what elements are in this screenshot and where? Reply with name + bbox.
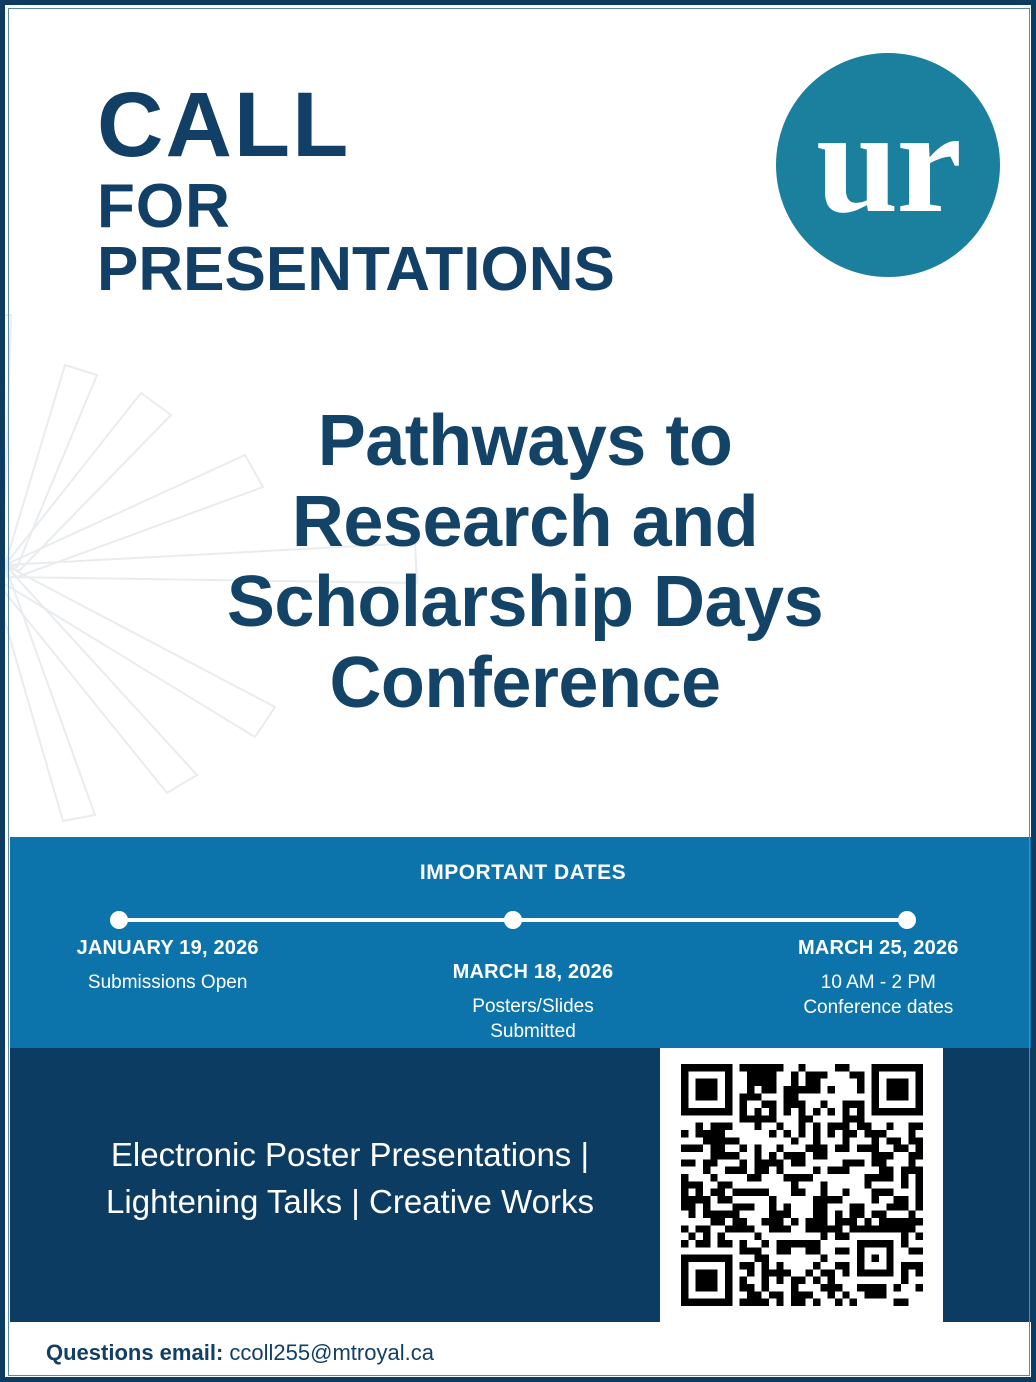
important-dates-heading: IMPORTANT DATES — [10, 861, 1036, 885]
timeline-track — [110, 911, 916, 929]
timeline-dot-1 — [110, 911, 128, 929]
milestone-item: MARCH 25, 2026 10 AM - 2 PM Conference d… — [686, 937, 1031, 1045]
headline-line-3: PRESENTATIONS — [97, 241, 615, 298]
important-dates-band: IMPORTANT DATES JANUARY 19, 2026 Submiss… — [10, 837, 1036, 1048]
milestone-detail: Posters/Slides — [380, 994, 685, 1019]
presentation-formats-text: Electronic Poster Presentations | Lighte… — [50, 1132, 650, 1226]
milestone-list: JANUARY 19, 2026 Submissions Open MARCH … — [15, 937, 1031, 1045]
milestone-detail: Submissions Open — [15, 970, 320, 995]
milestone-item: JANUARY 19, 2026 Submissions Open — [15, 937, 380, 1045]
ur-logo: ur — [776, 53, 1000, 277]
qr-code-panel — [660, 1048, 943, 1322]
ur-logo-mark: ur — [776, 88, 1000, 236]
headline-line-2: FOR — [97, 178, 615, 235]
contact-line: Questions email: ccoll255@mtroyal.ca — [46, 1340, 434, 1366]
milestone-date: JANUARY 19, 2026 — [15, 937, 320, 960]
poster-canvas: CALL FOR PRESENTATIONS ur Pathways to Re… — [0, 0, 1036, 1382]
page-headline: CALL FOR PRESENTATIONS — [97, 83, 615, 298]
page-title: Pathways to Research and Scholarship Day… — [155, 401, 895, 724]
timeline-dot-2 — [504, 911, 522, 929]
timeline-dot-3 — [898, 911, 916, 929]
milestone-detail: 10 AM - 2 PM — [726, 970, 1031, 995]
headline-line-1: CALL — [97, 83, 615, 168]
footer-bar: Questions email: ccoll255@mtroyal.ca — [10, 1322, 1036, 1382]
milestone-item: MARCH 18, 2026 Posters/Slides Submitted — [380, 937, 685, 1045]
milestone-date: MARCH 25, 2026 — [726, 937, 1031, 960]
milestone-detail: Submitted — [380, 1019, 685, 1044]
qr-code-icon[interactable] — [681, 1064, 923, 1306]
header-area: CALL FOR PRESENTATIONS ur Pathways to Re… — [5, 5, 1036, 837]
contact-email[interactable]: ccoll255@mtroyal.ca — [229, 1340, 434, 1365]
milestone-detail: Conference dates — [726, 995, 1031, 1020]
milestone-date: MARCH 18, 2026 — [380, 961, 685, 984]
contact-label: Questions email: — [46, 1340, 223, 1365]
formats-band: Electronic Poster Presentations | Lighte… — [10, 1048, 1036, 1322]
